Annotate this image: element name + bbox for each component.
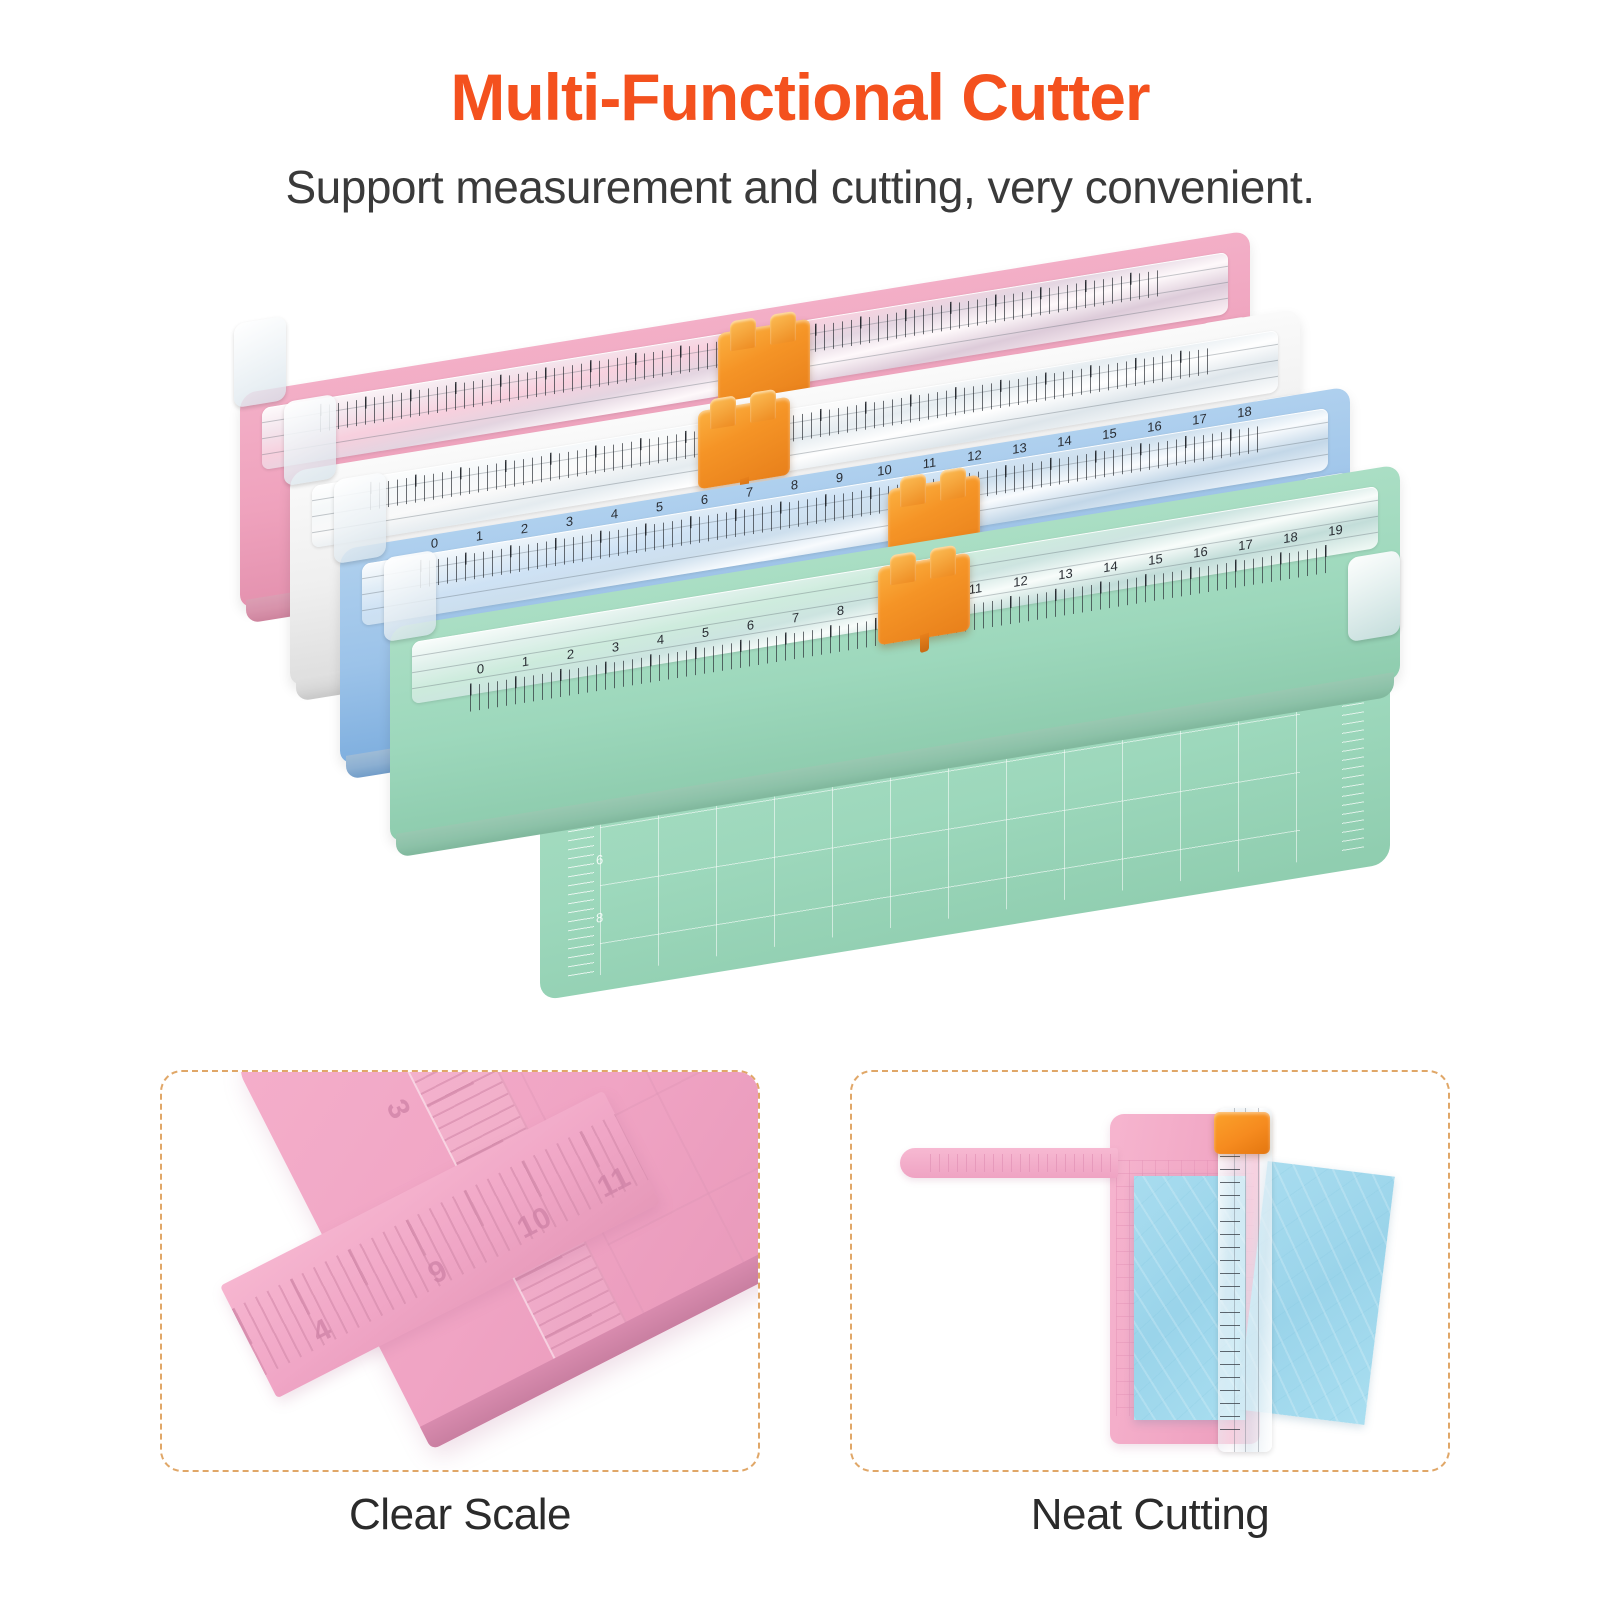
caption-neat-cutting: Neat Cutting	[850, 1490, 1450, 1540]
panel-neat-cutting	[850, 1070, 1450, 1472]
detail-panels: 3 7 8 4 9 10 11	[0, 1070, 1600, 1490]
trimmer-stack: 0123456789101112131415161718 3468	[200, 250, 1400, 1010]
hero-product-image: 0123456789101112131415161718 3468	[0, 250, 1600, 1010]
page-title: Multi-Functional Cutter	[0, 0, 1600, 130]
product-infographic: Multi-Functional Cutter Support measurem…	[0, 0, 1600, 1600]
panel-clear-scale: 3 7 8 4 9 10 11	[160, 1070, 760, 1472]
rail-cap-right	[1348, 550, 1400, 642]
page-subtitle: Support measurement and cutting, very co…	[0, 130, 1600, 210]
rail-cap-left	[234, 316, 286, 408]
caption-clear-scale: Clear Scale	[160, 1490, 760, 1540]
neat-cutting-scene	[852, 1072, 1448, 1470]
blade-slider-green[interactable]	[878, 553, 970, 646]
trimmer-green: 3468 012345678910111213141516171819	[390, 546, 1400, 966]
header: Multi-Functional Cutter Support measurem…	[0, 0, 1600, 210]
rail-cap-left	[284, 394, 336, 486]
extension-arm	[900, 1148, 1118, 1178]
rail-cap-left	[384, 550, 436, 642]
pink-ruler-number: 3	[379, 1094, 417, 1124]
rail-ruler-ticks	[1220, 1130, 1240, 1438]
blade-slider[interactable]	[1214, 1112, 1270, 1154]
rail-cap-left	[334, 472, 386, 564]
arm-ruler-ticks	[930, 1154, 1112, 1172]
